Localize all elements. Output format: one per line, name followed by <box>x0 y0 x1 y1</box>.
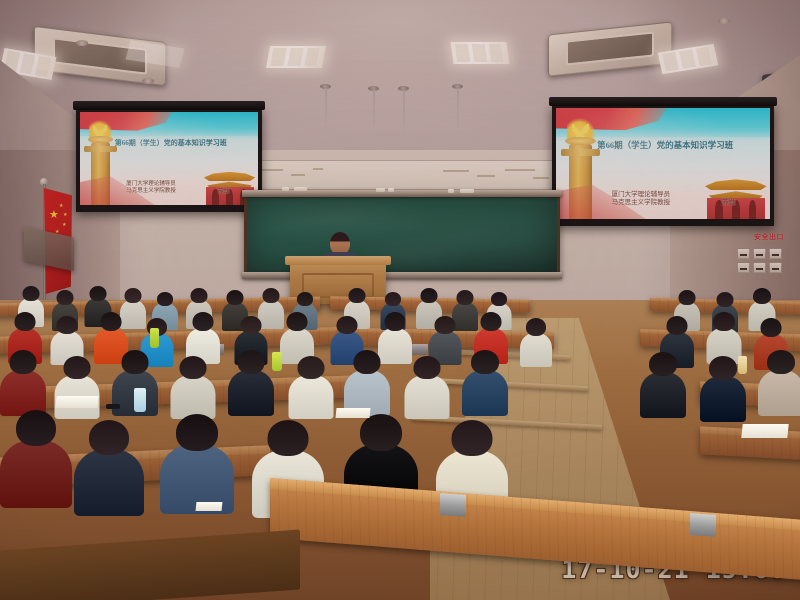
audience-torso <box>258 300 284 329</box>
audience-head <box>287 312 308 331</box>
audience-torso <box>228 370 274 416</box>
audience-torso <box>378 328 412 364</box>
audience-torso <box>520 333 552 367</box>
water-bottle-3 <box>134 388 146 412</box>
phone-on-desk <box>106 404 120 409</box>
audience-torso <box>120 300 146 329</box>
notebook-2 <box>335 408 370 418</box>
audience-head <box>471 350 499 374</box>
audience-head <box>297 292 313 306</box>
slide-content-right: 第66期（学生）党的基本知识学习班 厦门大学理论辅导员 马克思主义学院教授 苏劲 <box>556 108 770 219</box>
audience-torso <box>462 370 508 416</box>
audience-head <box>157 292 173 306</box>
smoke-detector-mid <box>142 78 154 84</box>
audience-head <box>227 290 244 305</box>
slide-byline-left: 厦门大学理论辅导员 马克思主义学院教授 <box>126 181 176 195</box>
smoke-detector-right <box>718 18 730 24</box>
audience-head <box>193 312 214 331</box>
audience-head <box>753 288 771 304</box>
audience-head <box>354 350 381 374</box>
audience-torso <box>758 370 800 416</box>
audience-head <box>717 292 734 307</box>
water-bottle-1 <box>150 328 159 348</box>
audience-head <box>176 414 218 451</box>
projection-screen-right[interactable]: 第66期（学生）党的基本知识学习班 厦门大学理论辅导员 马克思主义学院教授 苏劲 <box>552 104 774 226</box>
audience-head <box>89 286 106 301</box>
wall-outlet[interactable] <box>753 248 766 259</box>
wall-outlet[interactable] <box>737 248 750 259</box>
lecture-hall-photo: 第66期（学生）党的基本知识学习班 厦门大学理论辅导员 马克思主义学院教授 苏劲 <box>0 0 800 600</box>
foreground-desk-bracket-1 <box>440 493 466 517</box>
chalk-tray-upper <box>242 190 562 197</box>
ceiling-hang-rod-1 <box>325 88 327 140</box>
slide-byline-right: 厦门大学理论辅导员 马克思主义学院教授 <box>612 191 671 207</box>
audience-torso <box>404 375 449 419</box>
notebook-4 <box>196 502 223 511</box>
audience-torso <box>700 376 746 422</box>
ceiling-light-panel-4 <box>450 42 509 64</box>
audience-head <box>89 420 129 455</box>
audience-torso <box>640 372 686 418</box>
wall-outlet[interactable] <box>769 262 782 273</box>
audience-head <box>434 316 455 334</box>
wall-outlet[interactable] <box>769 248 782 259</box>
audience-head <box>767 350 795 374</box>
audience-head <box>413 356 440 379</box>
audience-torso <box>0 370 46 416</box>
audience-head <box>16 410 56 446</box>
water-bottle-4 <box>738 356 747 374</box>
audience-head <box>263 288 280 303</box>
notebook-3 <box>741 424 788 438</box>
slide-org-line1-left: 厦门大学理论辅导员 <box>126 181 176 188</box>
slide-speaker-right: 苏劲 <box>722 197 736 207</box>
water-bottle-2 <box>272 352 282 371</box>
audience-head <box>268 420 309 456</box>
audience-torso <box>170 375 215 419</box>
slide-speaker-left: 苏劲 <box>218 186 230 195</box>
notebook-1 <box>55 396 98 408</box>
audience-head <box>10 350 37 374</box>
slide-org-line2-right: 马克思主义学院教授 <box>612 199 671 207</box>
audience-head <box>649 352 677 376</box>
exit-sign: 安全出口 <box>754 232 784 242</box>
audience-head <box>238 350 265 374</box>
slide-content-left: 第66期（学生）党的基本知识学习班 厦门大学理论辅导员 马克思主义学院教授 苏劲 <box>80 112 258 205</box>
audience-head <box>179 356 206 379</box>
ceiling-hang-rod-3 <box>403 90 405 146</box>
audience-head <box>761 318 782 337</box>
foreground-desk-bracket-2 <box>690 513 716 537</box>
chalk-piece-4 <box>448 189 454 193</box>
audience-head <box>421 288 438 303</box>
audience-torso <box>0 440 72 508</box>
audience-head <box>385 312 406 331</box>
chalk-eraser-2 <box>460 189 474 193</box>
slide-title-right: 第66期（学生）党的基本知识学习班 <box>569 139 762 151</box>
audience-torso <box>288 375 333 419</box>
audience-head <box>336 316 357 334</box>
audience-torso <box>452 302 478 331</box>
wall-outlet[interactable] <box>737 262 750 273</box>
ceiling-light-panel-3 <box>266 46 326 68</box>
audience-head <box>360 414 402 451</box>
audience-head <box>23 286 40 301</box>
screen-roller-left <box>73 101 265 110</box>
audience-head <box>63 356 90 379</box>
ceiling-hang-rod-4 <box>457 88 459 142</box>
audience-head <box>101 312 122 331</box>
audience-head <box>191 288 208 303</box>
audience-head <box>297 356 324 379</box>
chalk-piece-1 <box>282 187 289 191</box>
audience-head <box>385 292 401 306</box>
ceiling-hang-rod-2 <box>373 90 375 144</box>
screen-roller-right <box>549 97 777 106</box>
audience-head <box>491 292 507 306</box>
audience-head <box>457 290 474 305</box>
audience-head <box>57 290 74 305</box>
audience-torso <box>74 449 144 516</box>
audience-head <box>125 288 142 303</box>
slide-org-line2-left: 马克思主义学院教授 <box>126 188 176 195</box>
desk-bracket <box>412 344 428 355</box>
audience-head <box>667 316 688 335</box>
chalk-eraser-1 <box>294 187 307 191</box>
wall-outlet-panel[interactable] <box>737 248 782 273</box>
audience-head <box>526 318 546 336</box>
audience-head <box>709 356 737 380</box>
smoke-detector-left <box>76 40 88 46</box>
whiteboard-strip <box>246 160 558 190</box>
audience-head <box>15 312 36 331</box>
audience-head <box>713 312 735 331</box>
audience-head <box>56 316 77 334</box>
audience-head <box>679 290 696 305</box>
chalk-piece-3 <box>388 188 394 192</box>
audience-head <box>122 350 149 374</box>
projection-screen-left[interactable]: 第66期（学生）党的基本知识学习班 厦门大学理论辅导员 马克思主义学院教授 苏劲 <box>76 108 262 212</box>
audience-head <box>240 316 261 334</box>
audience-head <box>481 312 502 331</box>
wall-outlet[interactable] <box>753 262 766 273</box>
slide-org-line1-right: 厦门大学理论辅导员 <box>612 191 671 199</box>
audience-head <box>452 420 493 456</box>
slide-title-left: 第66期（学生）党的基本知识学习班 <box>91 138 251 148</box>
chalk-piece-2 <box>376 188 385 192</box>
audience-head <box>349 288 366 303</box>
